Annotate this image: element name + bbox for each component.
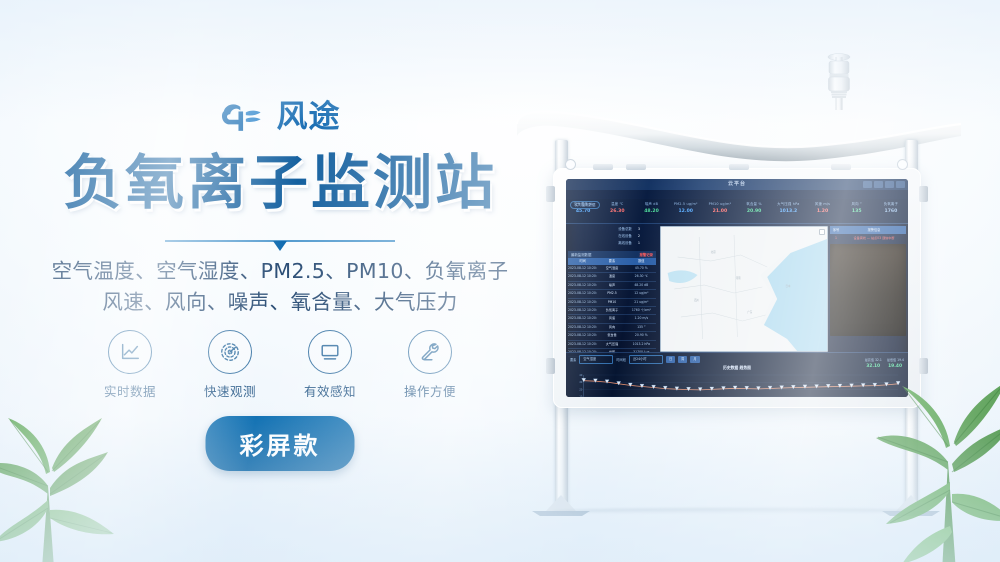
table-cell: 温度 (597, 273, 626, 280)
table-cell: 2023-08-12 10:20:35 (568, 265, 597, 272)
table-row[interactable]: 2023-08-12 10:20:35氧含量20.90 % (568, 332, 656, 340)
table-cell: 噪声 (597, 282, 626, 289)
feature-label: 实时数据 (94, 381, 166, 400)
base-plate-icon (530, 495, 592, 517)
stat-value: 2 (638, 233, 640, 240)
feature-item-fast-observation[interactable]: 快速观测 (194, 330, 266, 400)
metric-value: 48.20 (634, 207, 668, 216)
column-header: 报警信息 (842, 226, 906, 234)
alerts-and-camera-panel: 序号 报警信息 1 设备离线 — 站点03 通信中断 (828, 224, 908, 352)
table-row[interactable]: 2023-08-12 10:20:35温度26.30 ℃ (568, 273, 656, 281)
divider-triangle-icon (0, 238, 560, 252)
table-cell: 空气湿度 (597, 265, 626, 272)
alert-row: 1 设备离线 — 站点03 通信中断 (830, 234, 906, 242)
stat-row: 离线设备 1 (568, 240, 656, 247)
base-plate-icon (880, 495, 942, 517)
table-cell: PM2.5 (597, 290, 626, 297)
table-title: 最新监测数据 (571, 252, 591, 257)
hanger-ring-icon (565, 159, 576, 170)
metric-value: 21.00 (703, 207, 737, 216)
stat-label: 在线设备 (618, 233, 632, 240)
table-cell: 2023-08-12 10:20:35 (568, 315, 597, 322)
feature-label: 操作方便 (394, 381, 466, 400)
table-cell: 2023-08-12 10:20:35 (568, 341, 597, 348)
metric-value: 20.90 (737, 207, 771, 216)
table-row[interactable]: 2023-08-12 10:20:35风向135 ° (568, 324, 656, 332)
table-cell: 1013.2 hPa (627, 341, 656, 348)
map-zoom-control[interactable] (819, 229, 825, 235)
alarm-records-link[interactable]: 报警记录 (639, 252, 653, 257)
subtitle-line-2: 风速、风向、噪声、氧含量、大气压力 (0, 287, 560, 318)
legend-max: 最高值 32.1 (865, 357, 882, 362)
mount-clip-icon (593, 164, 613, 170)
table-cell: 45.70 % (627, 265, 656, 272)
hinge-icon (546, 186, 555, 202)
table-row[interactable]: 2023-08-12 10:20:35PM2.512 ug/m³ (568, 290, 656, 298)
table-cell: 1760 个/cm³ (627, 307, 656, 314)
factor-select[interactable]: 空气湿度 (579, 355, 613, 364)
wrench-icon (408, 330, 452, 374)
chart-legend: 最高值 32.1 最低值 19.4 (865, 357, 904, 362)
chart-title: 历史数据 趋势图 (570, 364, 904, 372)
svg-text:北京: 北京 (711, 250, 716, 254)
table-cell: 2023-08-12 10:20:35 (568, 332, 597, 339)
table-cell: PM10 (597, 299, 626, 306)
table-cell: 12 ug/m³ (627, 290, 656, 297)
table-cell: 2023-08-12 10:20:35 (568, 290, 597, 297)
svg-text:10: 10 (579, 395, 582, 397)
dashboard-header: 云平台 (566, 179, 908, 190)
metric-value: 1.20 (805, 207, 839, 216)
svg-text:日本: 日本 (786, 284, 791, 288)
column-header: 时间 (568, 258, 597, 265)
metric-card: PM2.5 ug/m³ 12.00 (669, 199, 703, 223)
metric-card: 大气压强 hPa 1013.2 (771, 199, 805, 223)
metric-value: 26.30 (600, 207, 634, 216)
feature-item-realtime-data[interactable]: 实时数据 (94, 330, 166, 400)
column-header: 序号 (830, 226, 842, 234)
dashboard-screen[interactable]: 云平台 实时监测数据 空气湿度 % 45.70 温度 ℃ 26.30 (566, 179, 908, 397)
monitoring-station-illustration: 云平台 实时监测数据 空气湿度 % 45.70 温度 ℃ 26.30 (505, 40, 975, 530)
mount-clip-icon (626, 164, 646, 170)
stat-value: 1 (638, 240, 640, 247)
table-cell: 大气压强 (597, 341, 626, 348)
hanger-ring-icon (897, 159, 908, 170)
hinge-icon (919, 186, 928, 202)
metric-card: 负氧离子 1760 (874, 199, 908, 223)
hinge-icon (546, 358, 555, 374)
table-row[interactable]: 2023-08-12 10:20:35噪声48.20 dB (568, 282, 656, 290)
hinge-icon (919, 358, 928, 374)
metric-card: 风向 ° 135 (840, 199, 874, 223)
stat-row: 在线设备 2 (568, 233, 656, 240)
range-button-month[interactable]: 月 (690, 356, 699, 363)
history-line-chart: 00:0001:0002:0003:0004:0005:0006:0007:00… (570, 372, 904, 397)
readout-max-value: 32.10 (866, 364, 880, 369)
alert-message: 设备离线 — 站点03 通信中断 (842, 234, 906, 242)
svg-text:四川: 四川 (694, 298, 699, 302)
table-row[interactable]: 2023-08-12 10:20:35负氧离子1760 个/cm³ (568, 307, 656, 315)
range-button-day[interactable]: 日 (666, 356, 675, 363)
metric-card: 温度 ℃ 26.30 (600, 199, 634, 223)
svg-text:广东: 广东 (747, 310, 752, 314)
dashboard-title: 云平台 (566, 180, 908, 187)
metric-card: 风速 m/s 1.20 (805, 199, 839, 223)
table-cell: 负氧离子 (597, 307, 626, 314)
table-cell: 氧含量 (597, 332, 626, 339)
metric-card: PM10 ug/m³ 21.00 (703, 199, 737, 223)
svg-text:20: 20 (579, 387, 582, 391)
display-cabinet: 云平台 实时监测数据 空气湿度 % 45.70 温度 ℃ 26.30 (553, 168, 921, 408)
chart-readout: 32.10 19.40 (866, 364, 902, 369)
table-body: 2023-08-12 10:20:35空气湿度45.70 %2023-08-12… (568, 265, 656, 357)
monitor-icon (308, 330, 352, 374)
svg-text:河南: 河南 (736, 276, 741, 280)
stat-label: 设备总数 (618, 226, 632, 233)
page-title: 负氧离子监测站 (0, 152, 560, 213)
line-chart-icon (108, 330, 152, 374)
table-cell: 48.20 dB (627, 282, 656, 289)
stat-value: 3 (638, 226, 640, 233)
range-button-week[interactable]: 周 (678, 356, 687, 363)
table-cell: 风向 (597, 324, 626, 331)
brand-logo: 风途 (0, 100, 560, 134)
table-cell: 21 ug/m³ (627, 299, 656, 306)
stat-label: 离线设备 (618, 240, 632, 247)
mount-clip-icon (831, 164, 851, 170)
table-cell: 风速 (597, 315, 626, 322)
dashboard-body: 设备总数 3 在线设备 2 离线设备 1 最新监测数据 (566, 224, 908, 352)
metric-value: 1013.2 (771, 207, 805, 216)
cloud-leaf-logo-icon (220, 100, 268, 134)
table-cell: 2023-08-12 10:20:35 (568, 307, 597, 314)
history-chart-panel: 要素 空气湿度 时间段 近24小时 日 周 月 最高值 32.1 最低值 19.… (566, 352, 908, 397)
range-select-label: 时间段 (616, 357, 626, 362)
china-region-map[interactable]: 北京河南 四川广东 日本 (660, 226, 828, 352)
metric-value: 135 (840, 207, 874, 216)
table-cell: 2023-08-12 10:20:35 (568, 324, 597, 331)
metric-card: 噪声 dB 48.20 (634, 199, 668, 223)
device-stats-and-table: 设备总数 3 在线设备 2 离线设备 1 最新监测数据 (566, 224, 658, 352)
table-cell: 2023-08-12 10:20:35 (568, 273, 597, 280)
table-row[interactable]: 2023-08-12 10:20:35大气压强1013.2 hPa (568, 341, 656, 349)
chart-toolbar: 要素 空气湿度 时间段 近24小时 日 周 月 最高值 32.1 最低值 19.… (570, 355, 904, 364)
table-row[interactable]: 2023-08-12 10:20:35PM1021 ug/m³ (568, 299, 656, 307)
svg-text:30: 30 (579, 380, 582, 384)
alert-column-headers: 序号 报警信息 (830, 226, 906, 234)
table-cell: 1.20 m/s (627, 315, 656, 322)
feature-label: 有效感知 (294, 381, 366, 400)
table-cell: 20.90 % (627, 332, 656, 339)
weather-widget-icon (863, 181, 905, 188)
hero-text-column: 风途 负氧离子监测站 空气温度、空气湿度、PM2.5、PM10、负氧离子 风速、… (0, 0, 560, 562)
table-cell: 135 ° (627, 324, 656, 331)
metric-value: 1760 (874, 207, 908, 216)
column-header: 要素 (597, 258, 626, 265)
color-screen-model-button[interactable]: 彩屏款 (206, 416, 355, 471)
table-cell: 2023-08-12 10:20:35 (568, 299, 597, 306)
feature-list: 实时数据 快速观测 (0, 330, 560, 400)
metric-value: 12.00 (669, 207, 703, 216)
hero-subtitle: 空气温度、空气湿度、PM2.5、PM10、负氧离子 风速、风向、噪声、氧含量、大… (0, 256, 560, 318)
dashboard-breadcrumb[interactable]: 实时监测数据 (566, 190, 908, 199)
readout-min-value: 19.40 (888, 364, 902, 369)
table-row[interactable]: 2023-08-12 10:20:35风速1.20 m/s (568, 315, 656, 323)
table-column-headers: 时间 要素 数值 (568, 258, 656, 265)
feature-label: 快速观测 (194, 381, 266, 400)
table-header-bar: 最新监测数据 报警记录 (568, 251, 656, 258)
feature-item-effective-sensing[interactable]: 有效感知 (294, 330, 366, 400)
metric-strip: 空气湿度 % 45.70 温度 ℃ 26.30 噪声 dB 48.20 PM2.… (566, 199, 908, 224)
stat-row: 设备总数 3 (568, 226, 656, 233)
brand-name: 风途 (277, 102, 341, 133)
map-panel[interactable]: 北京河南 四川广东 日本 (658, 224, 828, 352)
table-cell: 2023-08-12 10:20:35 (568, 282, 597, 289)
legend-min: 最低值 19.4 (887, 357, 904, 362)
mount-clip-icon (729, 164, 749, 170)
subtitle-line-1: 空气温度、空气湿度、PM2.5、PM10、负氧离子 (0, 256, 560, 287)
factor-select-label: 要素 (570, 357, 576, 362)
ground-shadow (553, 508, 925, 514)
range-select[interactable]: 近24小时 (629, 355, 663, 364)
promo-banner: 风途 负氧离子监测站 空气温度、空气湿度、PM2.5、PM10、负氧离子 风速、… (0, 0, 1000, 562)
table-row[interactable]: 2023-08-12 10:20:35空气湿度45.70 % (568, 265, 656, 273)
breadcrumb-chip[interactable]: 实时监测数据 (570, 201, 600, 209)
svg-text:40: 40 (579, 373, 582, 377)
feature-item-easy-operation[interactable]: 操作方便 (394, 330, 466, 400)
column-header: 数值 (627, 258, 656, 265)
video-feed-panel[interactable] (830, 244, 906, 336)
metric-card: 氧含量 % 20.90 (737, 199, 771, 223)
radar-scan-icon (208, 330, 252, 374)
alert-index: 1 (830, 234, 842, 242)
table-cell: 26.30 ℃ (627, 273, 656, 280)
